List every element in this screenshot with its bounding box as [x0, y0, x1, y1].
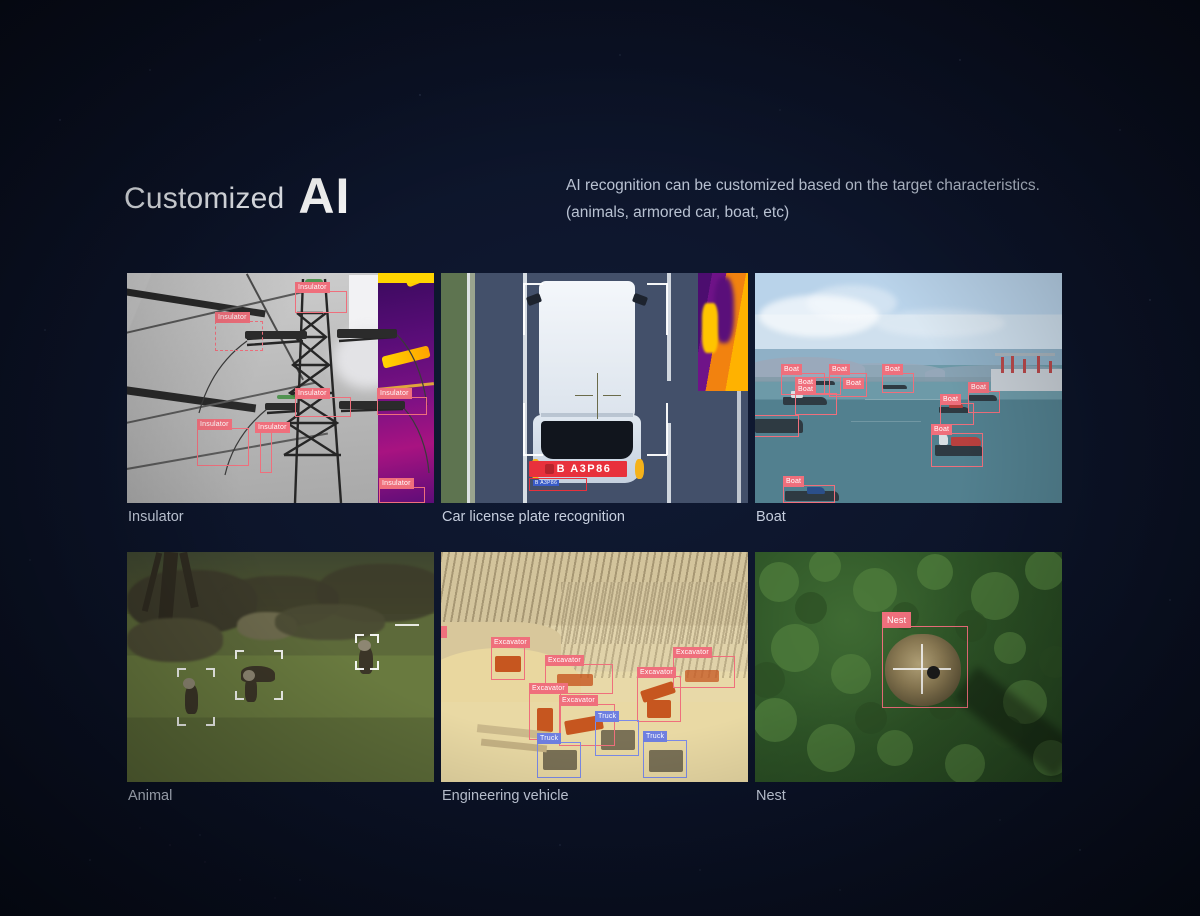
plate-seal-icon: [545, 464, 554, 474]
detection-box: [595, 720, 639, 756]
title-word-customized: Customized: [124, 184, 284, 222]
header-description: AI recognition can be customized based o…: [566, 172, 1200, 226]
detection-box: [537, 742, 581, 778]
detection-label: Boat: [940, 394, 961, 405]
detection-box: [197, 428, 249, 466]
thumbnail-boat[interactable]: Boat Boat Boat Boat Boat Boat Boat Boat …: [755, 273, 1062, 503]
detection-label: Excavator: [559, 695, 598, 706]
detection-label: Insulator: [295, 282, 330, 293]
detection-label: Boat: [882, 364, 903, 375]
detection-label: Nest: [882, 612, 911, 628]
thumbnail-car-license-plate[interactable]: B A3P86 B A3P86: [441, 273, 748, 503]
tracker-bracket: [355, 634, 379, 670]
title-word-ai: AI: [298, 171, 350, 222]
detection-box: [260, 431, 272, 473]
page-header: Customized AI AI recognition can be cust…: [124, 160, 1104, 222]
detection-label: Excavator: [491, 637, 530, 648]
gallery-item-insulator[interactable]: Insulator Insulator Insulator Insulator …: [127, 273, 434, 503]
slide-root: Customized AI AI recognition can be cust…: [0, 0, 1200, 916]
detection-label: Truck: [537, 733, 561, 744]
windshield: [541, 421, 633, 459]
license-plate-overlay: B A3P86: [529, 461, 627, 477]
detection-label: Boat: [843, 378, 864, 389]
gallery-item-nest[interactable]: Nest Nest: [755, 552, 1062, 782]
license-plate-small-text: B A3P86: [533, 480, 559, 486]
detection-box: [882, 373, 914, 393]
gallery-item-boat[interactable]: Boat Boat Boat Boat Boat Boat Boat Boat …: [755, 273, 1062, 503]
detection-box: [295, 291, 347, 313]
detection-box: [295, 397, 351, 417]
detection-box: [755, 415, 799, 437]
detection-box: [215, 321, 263, 351]
detection-label: Excavator: [545, 655, 584, 666]
detection-box: [931, 433, 983, 467]
detection-label: Truck: [643, 731, 667, 742]
license-plate-text: B A3P86: [557, 463, 612, 475]
detection-label: Boat: [783, 476, 804, 487]
gallery-caption: Car license plate recognition: [442, 509, 625, 525]
detection-label: Boat: [795, 384, 816, 395]
detection-box: [882, 626, 968, 708]
gallery-caption: Insulator: [128, 509, 184, 525]
detection-box: [643, 740, 687, 778]
detection-label: Excavator: [637, 667, 676, 678]
detection-label: Insulator: [379, 478, 414, 489]
detection-label: Boat: [931, 424, 952, 435]
thumbnail-insulator[interactable]: Insulator Insulator Insulator Insulator …: [127, 273, 434, 503]
gallery-caption: Animal: [128, 788, 172, 804]
detection-label: Insulator: [377, 388, 412, 399]
detection-box: [940, 403, 974, 425]
gallery-caption: Boat: [756, 509, 786, 525]
gallery-caption: Nest: [756, 788, 786, 804]
detection-box: [379, 487, 425, 503]
detection-label: Insulator: [197, 419, 232, 430]
detection-label: Truck: [595, 711, 619, 722]
detection-box: [783, 485, 835, 503]
detection-box: [637, 676, 681, 722]
detection-label: Boat: [781, 364, 802, 375]
gallery-item-animal[interactable]: Animal: [127, 552, 434, 782]
crosshair-icon: [575, 373, 621, 419]
detection-label: Insulator: [295, 388, 330, 399]
detection-label: Excavator: [529, 683, 568, 694]
tracker-bracket: [235, 650, 283, 700]
thumbnail-animal[interactable]: [127, 552, 434, 782]
gallery-item-engineering-vehicle[interactable]: Excavator Excavator Excavator Excavator …: [441, 552, 748, 782]
gallery-caption: Engineering vehicle: [442, 788, 569, 804]
thumbnail-nest[interactable]: Nest: [755, 552, 1062, 782]
detection-label: Boat: [968, 382, 989, 393]
detection-box: [491, 646, 525, 680]
tracker-bracket: [177, 668, 215, 726]
detection-label: Excavator: [673, 647, 712, 658]
detection-box: [673, 656, 735, 688]
detection-label: Boat: [829, 364, 850, 375]
description-line-2: (animals, armored car, boat, etc): [566, 199, 1200, 226]
gallery-grid: Insulator Insulator Insulator Insulator …: [127, 273, 1062, 782]
detection-label: Insulator: [255, 422, 290, 433]
detection-label: Insulator: [215, 312, 250, 323]
detection-box: [377, 397, 427, 415]
gallery-item-car-license-plate[interactable]: B A3P86 B A3P86 Car license plate recogn…: [441, 273, 748, 503]
description-line-1: AI recognition can be customized based o…: [566, 172, 1200, 199]
thumbnail-engineering-vehicle[interactable]: Excavator Excavator Excavator Excavator …: [441, 552, 748, 782]
detection-box: [795, 393, 837, 415]
